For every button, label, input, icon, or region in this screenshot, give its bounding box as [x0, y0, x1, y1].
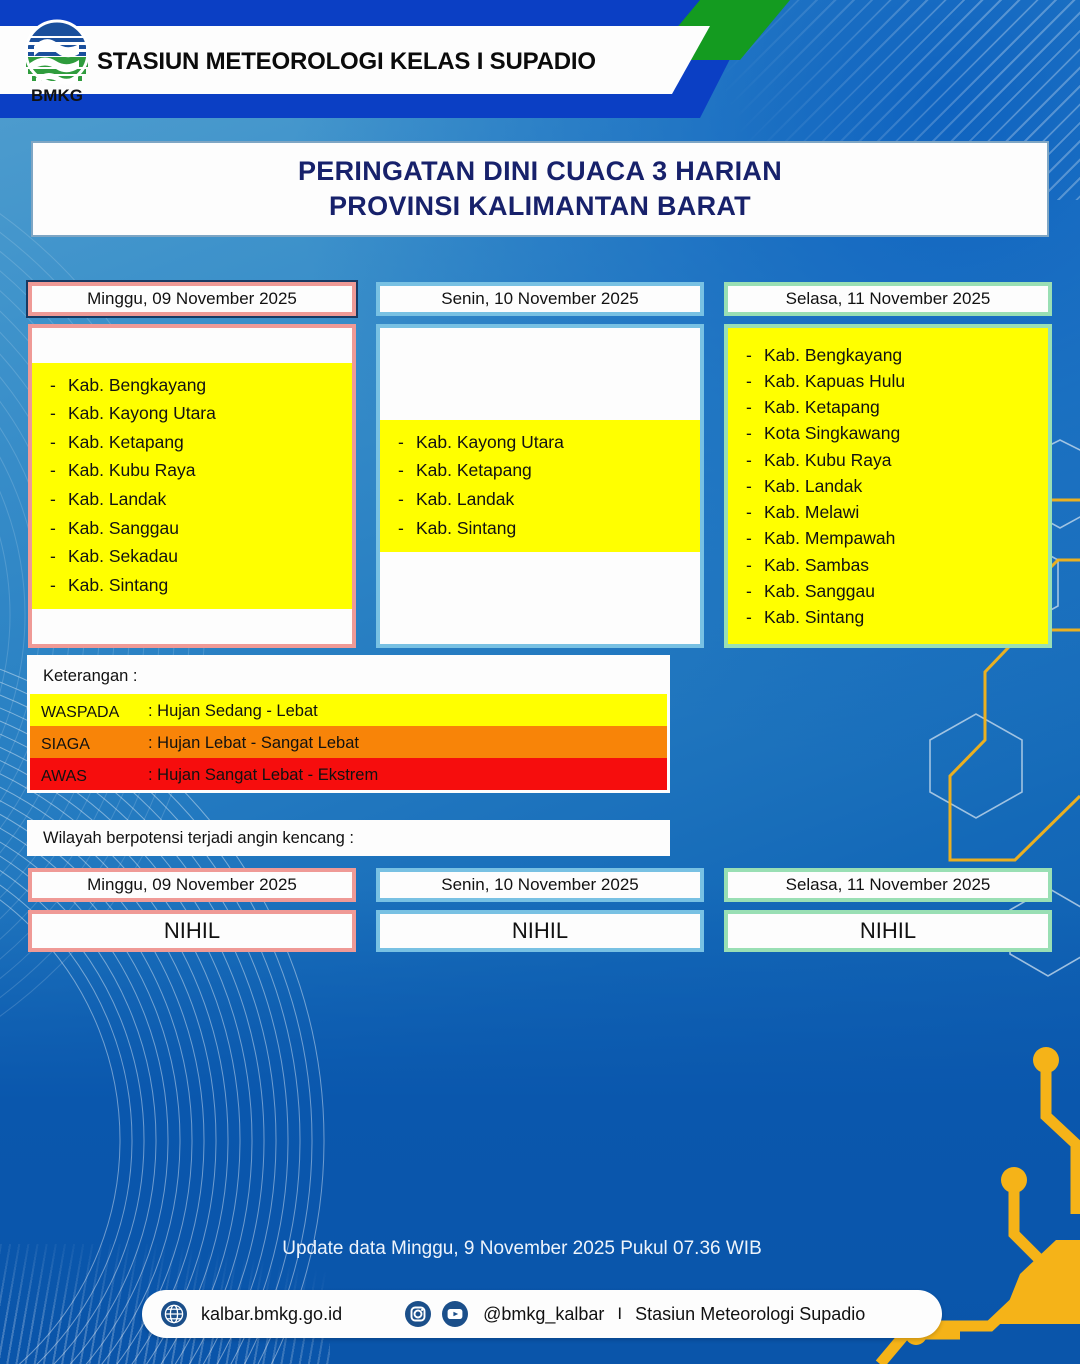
list-item: -Kab. Sekadau: [32, 542, 352, 571]
wind-column-day3: Selasa, 11 November 2025 NIHIL: [724, 868, 1052, 952]
legend-row-siaga: SIAGA : Hujan Lebat - Sangat Lebat: [30, 726, 667, 758]
area-list-box-day3: -Kab. Bengkayang -Kab. Kapuas Hulu -Kab.…: [724, 324, 1052, 648]
list-item: -Kab. Landak: [728, 473, 1048, 499]
wind-value-day1: NIHIL: [28, 910, 356, 952]
list-item: -Kab. Landak: [380, 485, 700, 514]
list-item: -Kab. Kayong Utara: [380, 428, 700, 457]
wind-date-day2: Senin, 10 November 2025: [376, 868, 704, 902]
list-item: -Kab. Sintang: [32, 571, 352, 600]
area-list-box-day1: -Kab. Bengkayang -Kab. Kayong Utara -Kab…: [28, 324, 356, 648]
wind-column-day2: Senin, 10 November 2025 NIHIL: [376, 868, 704, 952]
instagram-icon[interactable]: [404, 1300, 432, 1328]
list-item: -Kab. Sintang: [728, 604, 1048, 630]
legend-heading: Keterangan :: [30, 658, 667, 694]
legend-row-waspada: WASPADA : Hujan Sedang - Lebat: [30, 694, 667, 726]
station-name: Stasiun Meteorologi Supadio: [635, 1304, 865, 1325]
legend-level-description: : Hujan Lebat - Sangat Lebat: [148, 735, 359, 759]
list-item: -Kab. Melawi: [728, 499, 1048, 525]
list-item: -Kab. Kapuas Hulu: [728, 368, 1048, 394]
list-item: -Kab. Sintang: [380, 514, 700, 543]
youtube-icon[interactable]: [441, 1300, 469, 1328]
list-item: -Kab. Ketapang: [32, 428, 352, 457]
website-group[interactable]: kalbar.bmkg.go.id: [160, 1300, 342, 1328]
list-item: -Kab. Sanggau: [728, 578, 1048, 604]
list-item: -Kab. Mempawah: [728, 525, 1048, 551]
social-handle: @bmkg_kalbar: [483, 1304, 604, 1325]
list-item: -Kab. Kubu Raya: [728, 447, 1048, 473]
list-item: -Kab. Bengkayang: [32, 371, 352, 400]
footer-separator: I: [617, 1304, 622, 1324]
list-item: -Kab. Kubu Raya: [32, 456, 352, 485]
footer-contact-bar: kalbar.bmkg.go.id @bmkg_kalbar I: [142, 1290, 942, 1338]
wind-date-day3: Selasa, 11 November 2025: [724, 868, 1052, 902]
list-item: -Kota Singkawang: [728, 420, 1048, 446]
main-title-card: PERINGATAN DINI CUACA 3 HARIAN PROVINSI …: [31, 141, 1049, 237]
social-icons-group: [404, 1300, 469, 1328]
website-url: kalbar.bmkg.go.id: [201, 1304, 342, 1325]
list-item: -Kab. Landak: [32, 485, 352, 514]
update-timestamp: Update data Minggu, 9 November 2025 Puku…: [0, 1238, 1080, 1260]
org-title: STASIUN METEOROLOGI KELAS I SUPADIO: [97, 48, 596, 76]
list-item: -Kab. Sanggau: [32, 514, 352, 543]
forecast-column-day3: Selasa, 11 November 2025 -Kab. Bengkayan…: [724, 282, 1052, 648]
legend-level-label: WASPADA: [30, 705, 148, 726]
legend-level-description: : Hujan Sangat Lebat - Ekstrem: [148, 767, 378, 791]
wind-date-day1: Minggu, 09 November 2025: [28, 868, 356, 902]
wind-value-day2: NIHIL: [376, 910, 704, 952]
legend-level-label: SIAGA: [30, 737, 148, 758]
list-item: -Kab. Ketapang: [380, 456, 700, 485]
globe-icon: [160, 1300, 188, 1328]
wind-section-heading: Wilayah berpotensi terjadi angin kencang…: [27, 820, 670, 856]
legend-row-awas: AWAS : Hujan Sangat Lebat - Ekstrem: [30, 758, 667, 790]
bmkg-logo-icon: BMKG: [20, 16, 94, 104]
waspada-band-day3: -Kab. Bengkayang -Kab. Kapuas Hulu -Kab.…: [728, 328, 1048, 644]
list-item: -Kab. Kayong Utara: [32, 399, 352, 428]
forecast-column-day1: Minggu, 09 November 2025 -Kab. Bengkayan…: [28, 282, 356, 648]
wind-value-day3: NIHIL: [724, 910, 1052, 952]
date-header-day2: Senin, 10 November 2025: [376, 282, 704, 316]
date-header-day3: Selasa, 11 November 2025: [724, 282, 1052, 316]
date-header-day1: Minggu, 09 November 2025: [28, 282, 356, 316]
legend-level-description: : Hujan Sedang - Lebat: [148, 703, 318, 727]
list-item: -Kab. Ketapang: [728, 394, 1048, 420]
infographic-canvas: BMKG STASIUN METEOROLOGI KELAS I SUPADIO…: [0, 0, 1080, 1364]
svg-text:BMKG: BMKG: [31, 86, 83, 104]
legend-level-label: AWAS: [30, 769, 148, 790]
area-list-box-day2: -Kab. Kayong Utara -Kab. Ketapang -Kab. …: [376, 324, 704, 648]
waspada-band-day2: -Kab. Kayong Utara -Kab. Ketapang -Kab. …: [380, 420, 700, 552]
list-item: -Kab. Bengkayang: [728, 342, 1048, 368]
page-header: BMKG STASIUN METEOROLOGI KELAS I SUPADIO: [0, 0, 1080, 118]
title-line-1: PERINGATAN DINI CUACA 3 HARIAN: [298, 154, 782, 189]
list-item: -Kab. Sambas: [728, 552, 1048, 578]
title-line-2: PROVINSI KALIMANTAN BARAT: [329, 189, 751, 224]
forecast-column-day2: Senin, 10 November 2025 -Kab. Kayong Uta…: [376, 282, 704, 648]
wind-column-day1: Minggu, 09 November 2025 NIHIL: [28, 868, 356, 952]
legend-panel: Keterangan : WASPADA : Hujan Sedang - Le…: [27, 655, 670, 793]
waspada-band-day1: -Kab. Bengkayang -Kab. Kayong Utara -Kab…: [32, 363, 352, 610]
